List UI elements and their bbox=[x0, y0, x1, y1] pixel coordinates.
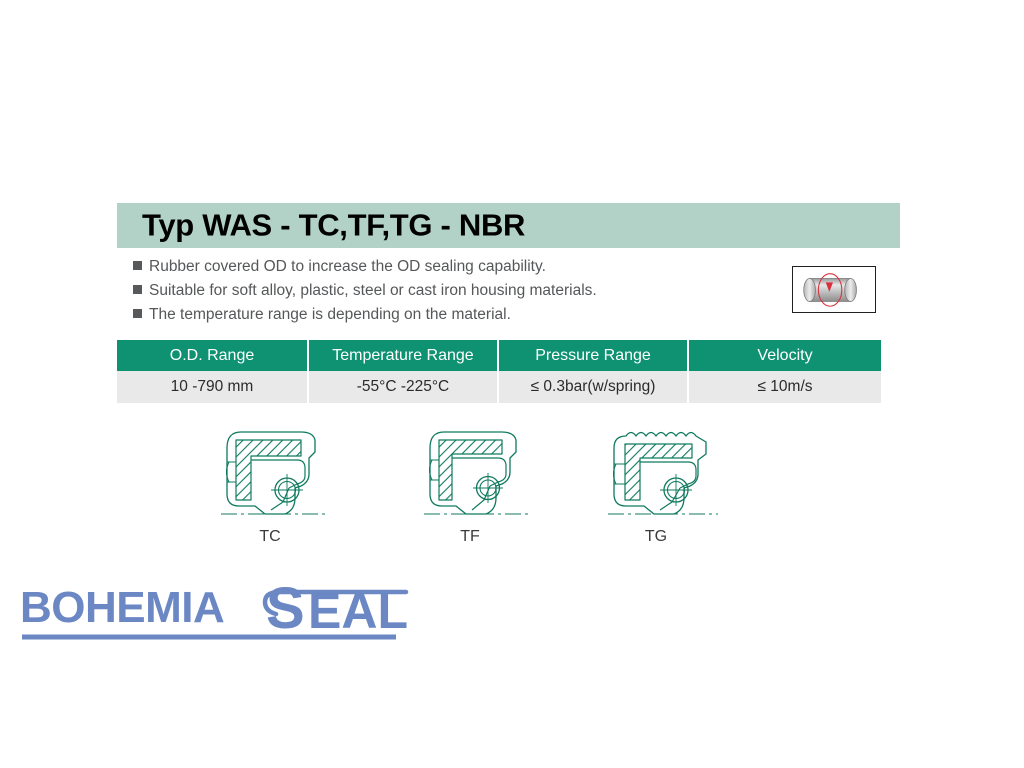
column-header-od-range: O.D. Range bbox=[117, 340, 308, 371]
square-bullet-icon bbox=[133, 309, 142, 318]
logo-text-s: S bbox=[266, 578, 305, 641]
list-item: Suitable for soft alloy, plastic, steel … bbox=[133, 282, 753, 304]
cell-od-range: 10 -790 mm bbox=[117, 371, 308, 403]
feature-text: Suitable for soft alloy, plastic, steel … bbox=[149, 282, 597, 300]
seal-diagram-tg bbox=[592, 418, 732, 538]
cell-pressure-range: ≤ 0.3bar(w/spring) bbox=[498, 371, 688, 403]
title-band: Typ WAS - TC,TF,TG - NBR bbox=[117, 203, 900, 248]
cell-velocity: ≤ 10m/s bbox=[688, 371, 881, 403]
feature-text: Rubber covered OD to increase the OD sea… bbox=[149, 258, 546, 276]
logo-text-bohemia: BOHEMIA bbox=[20, 583, 224, 632]
seal-diagram-tf bbox=[408, 418, 548, 538]
square-bullet-icon bbox=[133, 285, 142, 294]
column-header-pressure-range: Pressure Range bbox=[498, 340, 688, 371]
seal-label-tg: TG bbox=[626, 528, 686, 546]
company-logo: BOHEMIA S EAL bbox=[18, 578, 418, 648]
square-bullet-icon bbox=[133, 261, 142, 270]
list-item: Rubber covered OD to increase the OD sea… bbox=[133, 258, 753, 280]
cell-temperature-range: -55°C -225°C bbox=[308, 371, 498, 403]
table-row: 10 -790 mm -55°C -225°C ≤ 0.3bar(w/sprin… bbox=[117, 371, 881, 403]
specification-table: O.D. Range Temperature Range Pressure Ra… bbox=[117, 340, 881, 403]
list-item: The temperature range is depending on th… bbox=[133, 306, 753, 328]
seal-diagram-tc bbox=[205, 418, 345, 538]
rotating-shaft-icon bbox=[792, 266, 876, 313]
feature-list: Rubber covered OD to increase the OD sea… bbox=[133, 258, 753, 330]
column-header-velocity: Velocity bbox=[688, 340, 881, 371]
seal-label-tf: TF bbox=[440, 528, 500, 546]
table-header-row: O.D. Range Temperature Range Pressure Ra… bbox=[117, 340, 881, 371]
page-title: Typ WAS - TC,TF,TG - NBR bbox=[142, 207, 525, 243]
seal-label-tc: TC bbox=[240, 528, 300, 546]
column-header-temperature-range: Temperature Range bbox=[308, 340, 498, 371]
feature-text: The temperature range is depending on th… bbox=[149, 306, 511, 324]
